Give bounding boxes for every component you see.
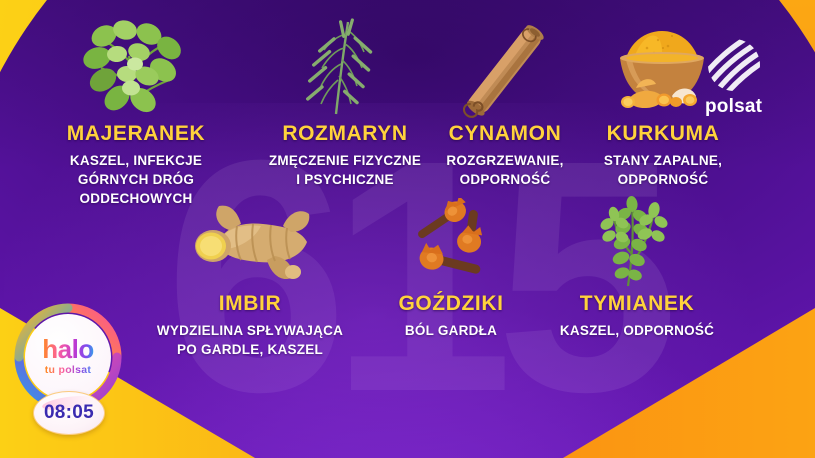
thyme-sprig-icon	[582, 190, 692, 288]
item-imbir: IMBIR WYDZIELINA SPŁYWAJĄCA PO GARDLE, K…	[144, 198, 356, 359]
halo-program-logo: halo tu polsat 08:05	[14, 303, 136, 433]
on-screen-clock: 08:05	[33, 391, 105, 435]
item-tymianek: TYMIANEK KASZEL, ODPORNOŚĆ	[530, 190, 744, 340]
halo-wordmark: halo	[42, 338, 93, 361]
item-majeranek: MAJERANEK KASZEL, INFEKCJE GÓRNYCH DRÓG …	[36, 14, 236, 208]
item-title: GOŹDZIKI	[356, 293, 546, 314]
ginger-root-icon	[185, 198, 315, 288]
item-gozdziki: GOŹDZIKI BÓL GARDŁA	[356, 198, 546, 340]
item-desc: BÓL GARDŁA	[356, 321, 546, 340]
item-desc: KASZEL, ODPORNOŚĆ	[530, 321, 744, 340]
turmeric-bowl-icon	[602, 14, 724, 118]
rosemary-sprig-icon	[290, 14, 400, 118]
item-desc: STANY ZAPALNE, ODPORNOŚĆ	[568, 151, 758, 189]
cinnamon-stick-icon	[445, 14, 565, 118]
item-title: IMBIR	[144, 293, 356, 314]
clock-time: 08:05	[44, 402, 94, 424]
item-title: KURKUMA	[568, 123, 758, 144]
cloves-icon	[391, 198, 511, 288]
broadcast-graphic: 615 polsat	[0, 0, 815, 458]
item-title: MAJERANEK	[36, 123, 236, 144]
item-kurkuma: KURKUMA STANY ZAPALNE, ODPORNOŚĆ	[568, 14, 758, 189]
marjoram-plant-icon	[77, 14, 195, 118]
halo-logo-disc: halo tu polsat	[25, 314, 111, 400]
item-desc: WYDZIELINA SPŁYWAJĄCA PO GARDLE, KASZEL	[144, 321, 356, 359]
halo-subtitle: tu polsat	[45, 364, 91, 376]
item-title: TYMIANEK	[530, 293, 744, 314]
